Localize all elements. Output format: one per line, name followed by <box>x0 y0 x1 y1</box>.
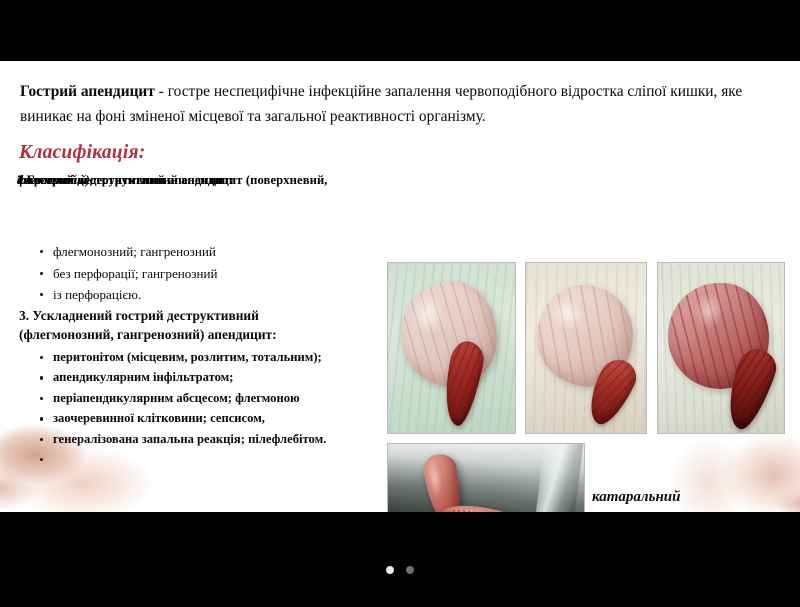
surgical-photo-resected-appendix <box>387 443 585 512</box>
list-item: без перфорації; гангренозний <box>37 263 218 285</box>
bullet-list-complications: перитонітом (місцевим, розлитим, тотальн… <box>37 347 326 449</box>
complications-subheading-line-1: 3. Ускладнений гострий деструктивний <box>19 306 259 325</box>
medical-illustration-phlegmonous-beige <box>525 262 647 434</box>
classification-overlay-gangrenous: гангренозний <box>17 173 76 188</box>
term-acute-appendicitis: Гострий апендицит <box>20 83 155 100</box>
medical-illustration-phlegmonous-green <box>387 262 516 434</box>
bullet-list-forms: флегмонозний; гангренозний без перфораці… <box>37 241 218 306</box>
nav-dot-2[interactable] <box>406 566 414 574</box>
presentation-viewer[interactable]: Гострий апендицит - гостре неспецифічне … <box>0 0 800 607</box>
list-item: із перфорацією. <box>37 284 218 306</box>
slide-canvas[interactable]: Гострий апендицит - гостре неспецифічне … <box>0 61 800 512</box>
medical-illustration-gangrenous <box>657 262 785 434</box>
complications-subheading-line-2: (флегмонозний, гангренозний) апендицит: <box>19 325 277 344</box>
list-item: періапендикулярним абсцесом; флегмоною <box>37 388 326 408</box>
image-caption-katarhalnyi: катаральний <box>592 489 680 506</box>
list-item: флегмонозний; гангренозний <box>37 241 218 263</box>
appendix-illustration-green-drape <box>388 263 515 433</box>
appendix-illustration-beige-drape <box>526 263 646 433</box>
overlapping-classification-line: 1.Гострий недеструктивний апендицит (пов… <box>17 173 792 193</box>
definition-paragraph: Гострий апендицит - гостре неспецифічне … <box>20 79 782 129</box>
classification-heading: Класифікація: <box>19 142 145 164</box>
nav-dot-1[interactable] <box>386 566 394 574</box>
list-item: заочеревинної клітковини; сепсисом, <box>37 408 326 428</box>
list-item: перитонітом (місцевим, розлитим, тотальн… <box>37 347 326 367</box>
appendix-illustration-gangrenous <box>658 263 784 433</box>
list-item: генералізована запальна реакція; пілефле… <box>37 429 326 449</box>
slide-navigation-dots[interactable] <box>0 566 800 574</box>
appendix-photo-metal-tray <box>388 444 584 512</box>
list-item: апендикулярним інфільтратом; <box>37 367 326 387</box>
